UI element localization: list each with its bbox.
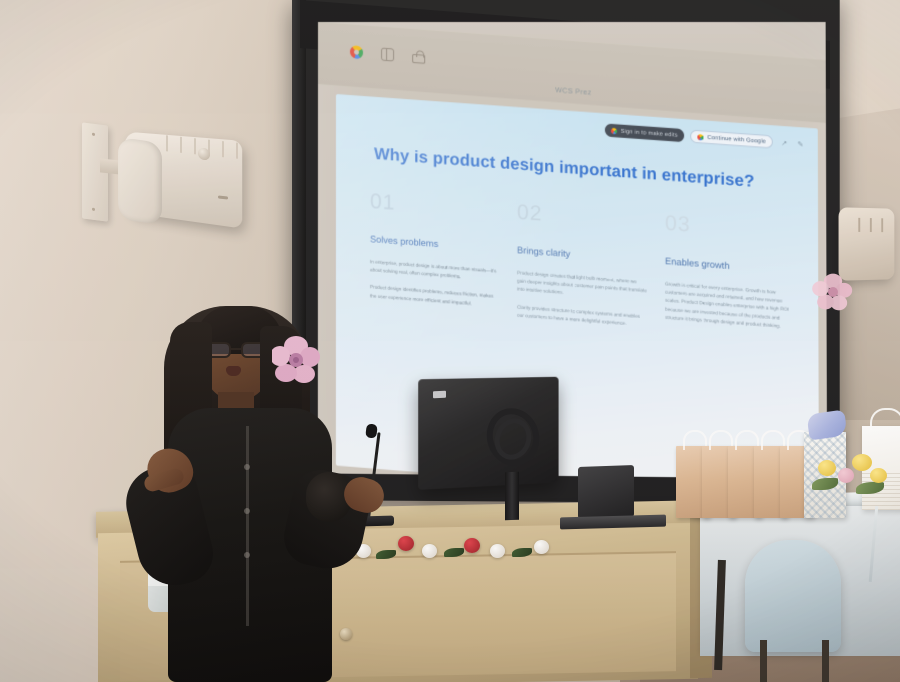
leaf bbox=[812, 478, 838, 490]
column-number: 03 bbox=[665, 213, 796, 244]
leaf bbox=[512, 548, 532, 557]
column-body: Product design creates that light bulb m… bbox=[517, 269, 647, 329]
wall-speaker-right bbox=[839, 207, 895, 280]
slide-column-2: 02 Brings clarity Product design creates… bbox=[517, 202, 647, 339]
speaker-grille bbox=[118, 137, 162, 225]
yellow-flower bbox=[852, 454, 872, 471]
wall-flower-decor bbox=[812, 272, 854, 312]
chair bbox=[745, 540, 841, 652]
column-paragraph: In enterprise, product design is about m… bbox=[370, 258, 499, 284]
column-paragraph: Clarity provides structure to complex sy… bbox=[517, 303, 647, 330]
monitor-stand bbox=[505, 472, 519, 520]
column-heading: Brings clarity bbox=[517, 245, 647, 265]
pink-flower bbox=[838, 468, 854, 483]
white-flower bbox=[490, 544, 505, 558]
lock-icon[interactable] bbox=[412, 53, 425, 63]
shirt-button bbox=[244, 508, 250, 514]
slide-column-3: 03 Enables growth Growth is critical for… bbox=[665, 213, 796, 351]
glasses-bridge bbox=[231, 348, 241, 350]
google-g-icon bbox=[697, 134, 703, 141]
sign-in-label: Sign in to make edits bbox=[621, 128, 678, 138]
shirt-button bbox=[244, 552, 250, 558]
column-heading: Enables growth bbox=[665, 256, 796, 276]
column-paragraph: Growth is critical for every enterprise.… bbox=[665, 280, 796, 332]
more-options-icon[interactable]: ✎ bbox=[795, 140, 805, 149]
column-number: 02 bbox=[517, 202, 647, 233]
continue-with-google-label: Continue with Google bbox=[707, 134, 766, 144]
column-paragraph: Product design creates that light bulb m… bbox=[517, 269, 647, 304]
continue-with-google-button[interactable]: Continue with Google bbox=[690, 130, 773, 149]
photograph-scene: WCS Prez Sign in to make edits Continue … bbox=[0, 0, 900, 682]
projected-browser-window: WCS Prez Sign in to make edits Continue … bbox=[318, 22, 827, 479]
white-flower bbox=[422, 544, 437, 558]
slide-title: Why is product design important in enter… bbox=[374, 145, 779, 195]
monitor-badge bbox=[433, 391, 446, 398]
leaf bbox=[856, 482, 884, 494]
google-dot-icon bbox=[611, 127, 617, 133]
column-number: 01 bbox=[370, 191, 499, 222]
presenter bbox=[120, 296, 390, 682]
column-body: Growth is critical for every enterprise.… bbox=[665, 280, 796, 332]
share-icon[interactable]: ↗ bbox=[779, 138, 789, 147]
sign-in-button[interactable]: Sign in to make edits bbox=[604, 123, 683, 142]
column-heading: Solves problems bbox=[370, 234, 499, 254]
hibiscus-flower-decor bbox=[272, 336, 320, 384]
rose bbox=[398, 536, 414, 551]
yellow-flower bbox=[870, 468, 887, 483]
rose bbox=[464, 538, 480, 553]
leaf bbox=[444, 548, 464, 557]
table-flower-arrangement bbox=[812, 454, 890, 506]
yellow-flower bbox=[818, 460, 836, 476]
white-flower bbox=[534, 540, 549, 554]
speaker-knob bbox=[198, 147, 210, 160]
laptop bbox=[578, 465, 634, 519]
slide-action-bar: Sign in to make edits Continue with Goog… bbox=[604, 123, 805, 151]
side-panel-icon[interactable] bbox=[381, 48, 394, 62]
chrome-icon[interactable] bbox=[350, 45, 363, 59]
slide-columns: 01 Solves problems In enterprise, produc… bbox=[370, 191, 796, 350]
shirt-button bbox=[244, 464, 250, 470]
shirt-placket bbox=[246, 426, 249, 626]
chair-leg bbox=[760, 640, 767, 682]
chair-leg bbox=[822, 640, 829, 682]
